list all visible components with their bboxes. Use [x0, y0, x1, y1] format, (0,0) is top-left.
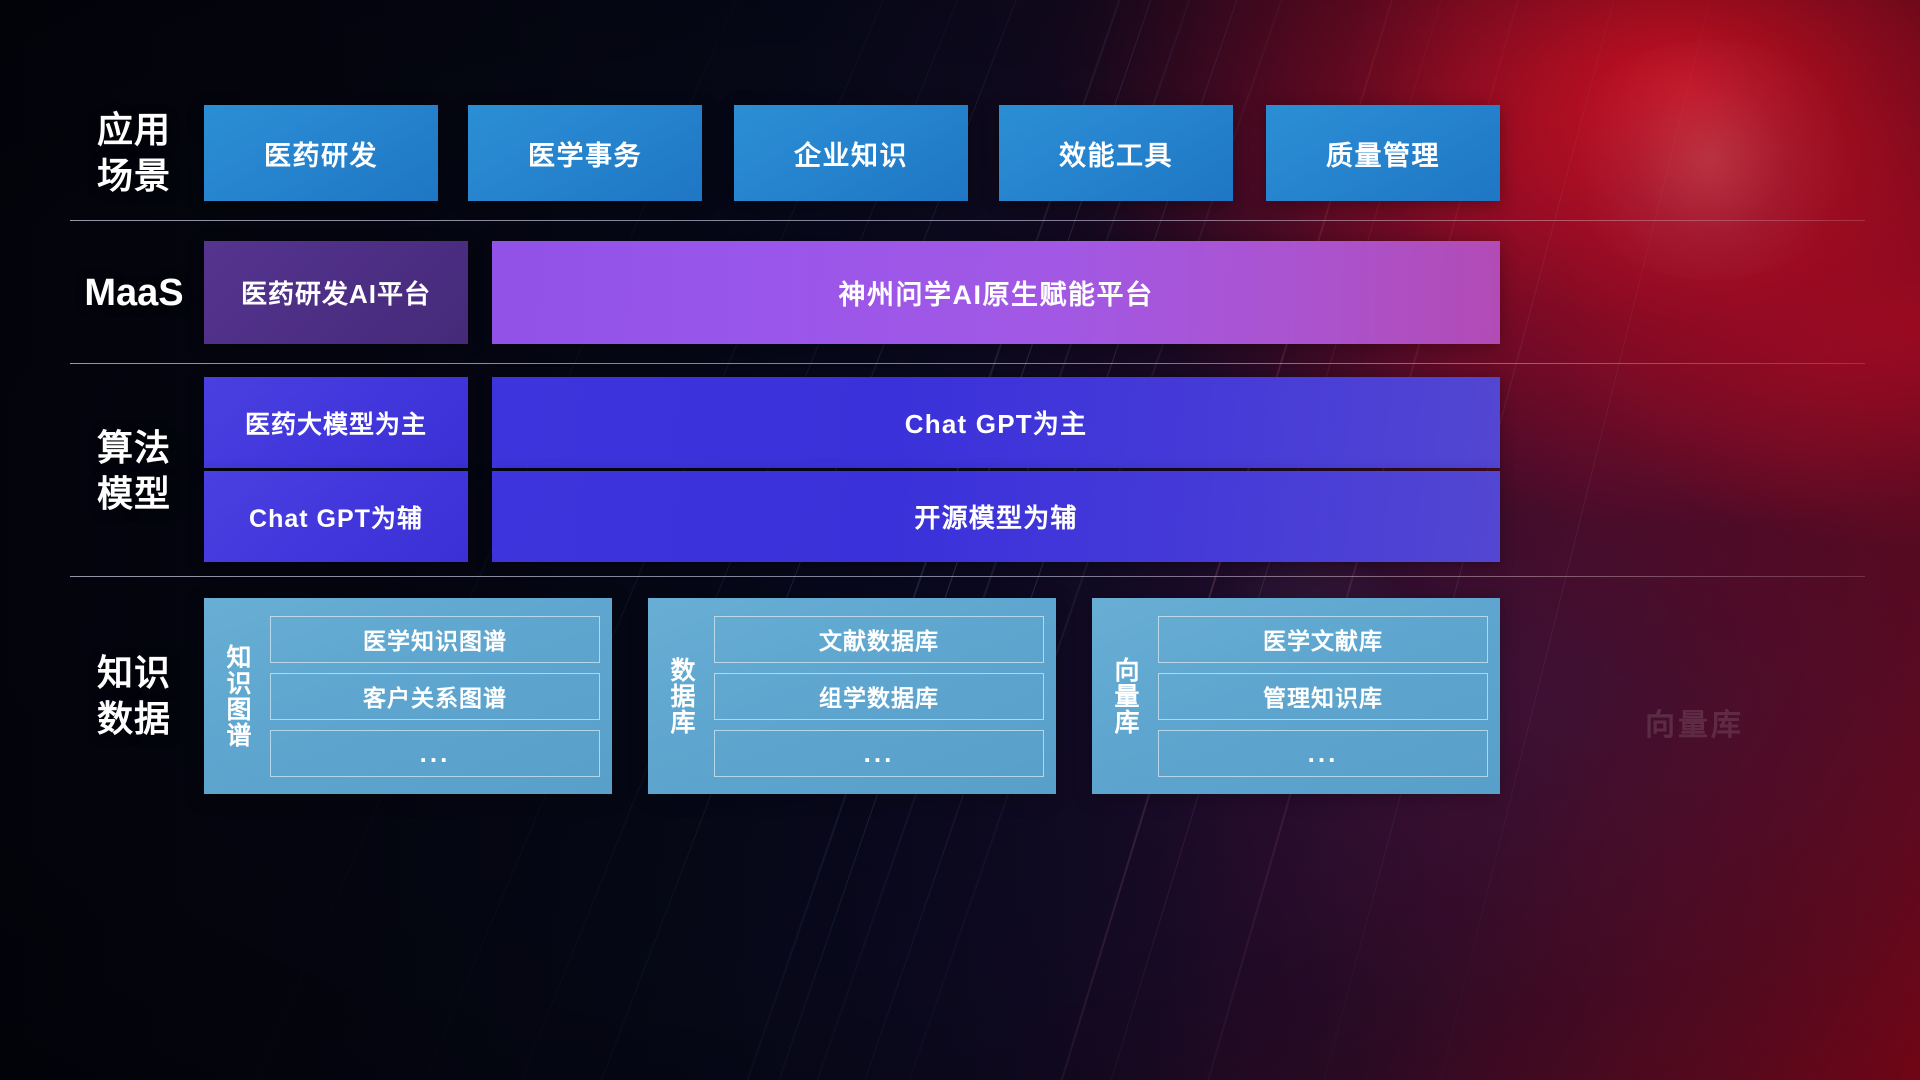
maas-card-medicine-ai-platform[interactable]: 医药研发AI平台 [204, 241, 468, 344]
row-label-application-line2: 场景 [70, 153, 198, 199]
divider-algorithm-knowledge [70, 576, 1865, 577]
maas-card-shenzhou-wenxue-platform[interactable]: 神州问学AI原生赋能平台 [492, 241, 1500, 344]
row-label-algorithm-line1: 算法 [70, 425, 198, 471]
knowledge-item-omics-database[interactable]: 组学数据库 [714, 673, 1044, 720]
knowledge-item-literature-database[interactable]: 文献数据库 [714, 616, 1044, 663]
divider-application-maas [70, 220, 1865, 221]
algo-card-chatgpt-primary[interactable]: Chat GPT为主 [492, 377, 1500, 468]
knowledge-card-side-label: 向量库 [1092, 610, 1158, 782]
knowledge-item-more[interactable]: ... [270, 730, 600, 777]
knowledge-item-more[interactable]: ... [1158, 730, 1488, 777]
row-label-algorithm-line2: 模型 [70, 471, 198, 517]
knowledge-item-more[interactable]: ... [714, 730, 1044, 777]
row-label-knowledge-line1: 知识 [70, 650, 198, 696]
watermark-text: 向量库 [1645, 700, 1744, 744]
app-card-efficiency-tools[interactable]: 效能工具 [999, 105, 1233, 201]
app-card-medical-affairs[interactable]: 医学事务 [468, 105, 702, 201]
row-label-maas-text: MaaS [70, 270, 198, 316]
row-label-application: 应用 场景 [70, 107, 198, 199]
divider-maas-algorithm [70, 363, 1865, 364]
knowledge-item-medical-knowledge-graph[interactable]: 医学知识图谱 [270, 616, 600, 663]
algo-card-medicine-large-model-primary[interactable]: 医药大模型为主 [204, 377, 468, 468]
knowledge-card-side-label: 知识图谱 [204, 610, 270, 782]
row-label-maas: MaaS [70, 270, 198, 316]
row-label-knowledge-line2: 数据 [70, 696, 198, 742]
knowledge-item-management-knowledge-store[interactable]: 管理知识库 [1158, 673, 1488, 720]
app-card-quality-management[interactable]: 质量管理 [1266, 105, 1500, 201]
knowledge-card-vector-store[interactable]: 向量库 医学文献库 管理知识库 ... [1092, 598, 1500, 794]
row-label-algorithm: 算法 模型 [70, 425, 198, 517]
knowledge-item-customer-relation-graph[interactable]: 客户关系图谱 [270, 673, 600, 720]
knowledge-card-item-list: 医学知识图谱 客户关系图谱 ... [270, 610, 600, 782]
knowledge-card-side-label: 数据库 [648, 610, 714, 782]
row-label-knowledge: 知识 数据 [70, 650, 198, 742]
knowledge-card-database[interactable]: 数据库 文献数据库 组学数据库 ... [648, 598, 1056, 794]
knowledge-card-knowledge-graph[interactable]: 知识图谱 医学知识图谱 客户关系图谱 ... [204, 598, 612, 794]
knowledge-item-medical-literature-store[interactable]: 医学文献库 [1158, 616, 1488, 663]
app-card-medicine-rd[interactable]: 医药研发 [204, 105, 438, 201]
algo-card-opensource-model-secondary[interactable]: 开源模型为辅 [492, 471, 1500, 562]
app-card-enterprise-knowledge[interactable]: 企业知识 [734, 105, 968, 201]
knowledge-card-item-list: 文献数据库 组学数据库 ... [714, 610, 1044, 782]
knowledge-card-item-list: 医学文献库 管理知识库 ... [1158, 610, 1488, 782]
row-label-application-line1: 应用 [70, 107, 198, 153]
algo-card-chatgpt-secondary[interactable]: Chat GPT为辅 [204, 471, 468, 562]
